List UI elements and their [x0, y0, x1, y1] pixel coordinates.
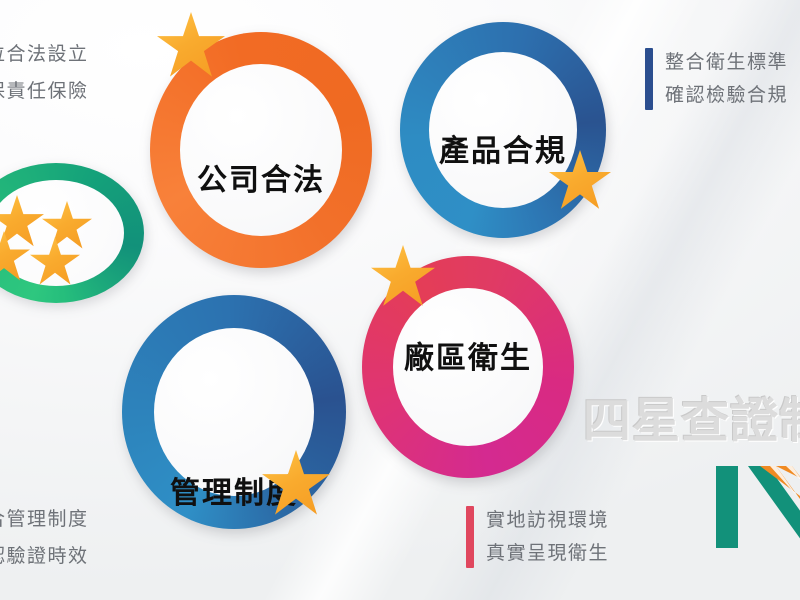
callout-company-line-1: 位合法設立	[0, 45, 89, 64]
watermark-title: 四星查證制	[583, 398, 800, 446]
node-product-compliance-label: 產品合規	[400, 126, 606, 170]
callout-accent-bar	[466, 506, 474, 568]
node-product-compliance[interactable]: 產品合規	[400, 22, 606, 238]
callout-product-line-1: 整合衛生標準	[665, 53, 788, 72]
callout-management-system: 合管理制度 認驗證時效	[0, 510, 89, 566]
callout-company-legal: 位合法設立 保責任保險	[0, 45, 89, 101]
callout-hygiene-line-2: 真實呈現衛生	[486, 544, 609, 563]
callout-accent-bar	[645, 48, 653, 110]
callout-manage-line-1: 合管理制度	[0, 510, 89, 529]
callout-product-line-2: 確認檢驗合規	[665, 86, 788, 105]
four-star-badge	[0, 163, 144, 303]
node-management-system[interactable]: 管理制度	[122, 295, 346, 529]
callout-company-line-2: 保責任保險	[0, 82, 89, 101]
ring-inner-disc	[180, 64, 342, 236]
slide-canvas: 四星查證制 公司合法 產品合規 管理制度 廠區衛生 位合法設立 保責任保險	[0, 0, 800, 600]
node-company-legal-label: 公司合法	[150, 155, 372, 199]
callout-factory-hygiene: 實地訪視環境 真實呈現衛生	[466, 506, 609, 568]
callout-manage-line-2: 認驗證時效	[0, 547, 89, 566]
node-factory-hygiene-label: 廠區衛生	[362, 333, 574, 377]
callout-hygiene-line-1: 實地訪視環境	[486, 511, 609, 530]
callout-product-compliance: 整合衛生標準 確認檢驗合規	[645, 48, 788, 110]
node-company-legal[interactable]: 公司合法	[150, 32, 372, 268]
corner-brand-logo	[714, 458, 800, 548]
